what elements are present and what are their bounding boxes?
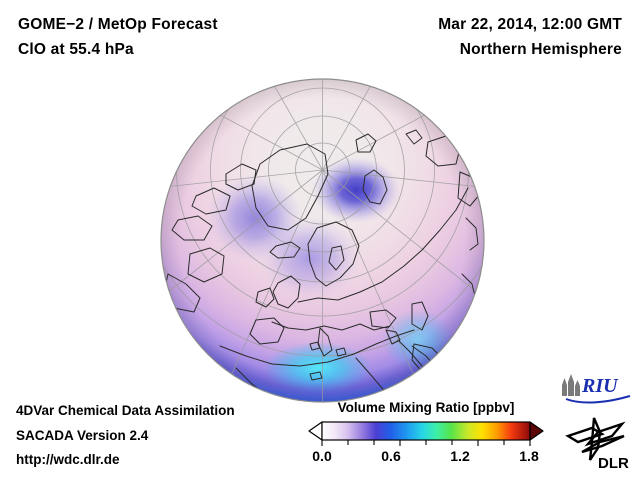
colorbar-ramp [322,422,530,440]
colorbar-ticks [322,440,530,446]
colorbar-tick-3: 1.8 [519,448,538,464]
orthographic-projection-svg [160,78,485,403]
dlr-logo-svg: DLR [562,414,634,474]
colorbar-tick-1: 0.6 [381,448,400,464]
forecast-datetime: Mar 22, 2014, 12:00 GMT [438,16,622,34]
footer-version: SACADA Version 2.4 [16,428,148,443]
colorbar-low-arrow [309,422,322,440]
dlr-mark-icon [568,418,624,460]
footer-url[interactable]: http://wdc.dlr.de [16,452,120,467]
page-title-instrument: GOME−2 / MetOp Forecast [18,16,218,34]
riu-towers-icon [562,374,580,396]
globe-scalar-field [160,78,485,403]
colorbar-gradient-svg [308,420,544,446]
globe-map [160,78,485,403]
hemisphere-label: Northern Hemisphere [460,41,622,59]
colorbar: Volume Mixing Ratio [ppbv] 0.0 0.6 1.2 1… [308,400,544,472]
dlr-logo: DLR [562,414,634,474]
dlr-wordmark: DLR [598,455,629,472]
colorbar-tick-2: 1.2 [450,448,469,464]
colorbar-tick-0: 0.0 [312,448,331,464]
riu-wordmark: RIU [581,375,619,397]
riu-logo-svg: RIU [558,372,634,406]
colorbar-title: Volume Mixing Ratio [ppbv] [308,400,544,415]
colorbar-high-arrow [530,422,543,440]
riu-logo: RIU [558,372,634,406]
page-title-species-level: ClO at 55.4 hPa [18,41,134,59]
footer-method: 4DVar Chemical Data Assimilation [16,403,235,418]
